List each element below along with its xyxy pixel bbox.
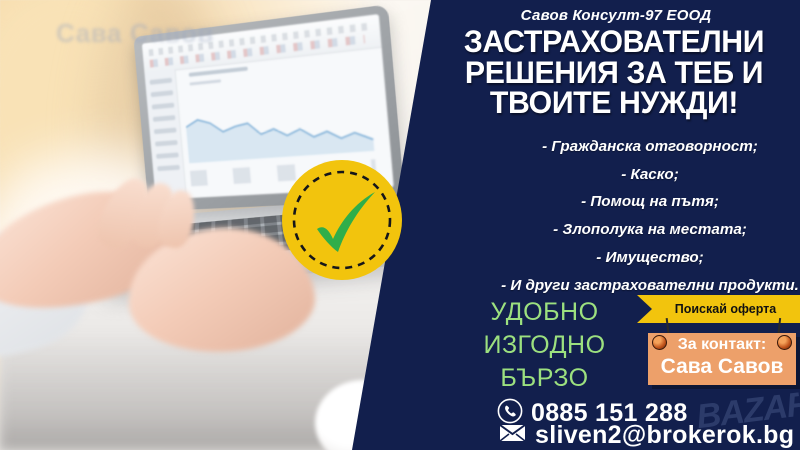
headline-line-1: ЗАСТРАХОВАТЕЛНИ (437, 26, 790, 57)
contact-card-label: За контакт: (648, 336, 796, 354)
photo-watermark: Сава Савов (56, 18, 214, 49)
company-name: Савов Консулт-97 ЕООД (440, 7, 792, 24)
screen-area-chart (184, 82, 375, 163)
slogan-block: УДОБНО ИЗГОДНО БЪРЗО (452, 296, 637, 395)
headline-line-2: РЕШЕНИЯ ЗА ТЕБ И (437, 57, 790, 88)
list-item: - Помощ на пътя; (460, 194, 800, 209)
slogan-line-2: ИЗГОДНО (452, 329, 637, 362)
slogan-line-1: УДОБНО (452, 296, 637, 329)
request-offer-label[interactable]: Поискай оферта (637, 295, 800, 323)
envelope-icon (499, 423, 526, 448)
check-mark-icon (281, 159, 403, 281)
screen-report-subtitle (189, 80, 221, 86)
list-item: - И други застрахователни продукти. (460, 278, 800, 293)
headline-line-3: ТВОИТЕ НУЖДИ! (437, 87, 790, 118)
contact-person-name: Сава Савов (648, 355, 796, 379)
advertisement-banner: Сава Савов Савов Консулт-97 ЕООД ЗАСТРАХ… (0, 0, 800, 450)
contact-card: За контакт: Сава Савов (648, 333, 796, 385)
slogan-line-3: БЪРЗО (452, 362, 637, 395)
list-item: - Имущество; (460, 250, 800, 265)
services-list: - Гражданска отговорност; - Каско; - Пом… (420, 139, 800, 305)
list-item: - Злополука на местата; (460, 222, 800, 237)
page-title: ЗАСТРАХОВАТЕЛНИ РЕШЕНИЯ ЗА ТЕБ И ТВОИТЕ … (437, 26, 790, 118)
screen-sidebar (145, 70, 188, 200)
pin-icon (652, 335, 667, 350)
list-item: - Каско; (460, 167, 800, 182)
list-item: - Гражданска отговорност; (460, 139, 800, 154)
pin-icon (777, 335, 792, 350)
